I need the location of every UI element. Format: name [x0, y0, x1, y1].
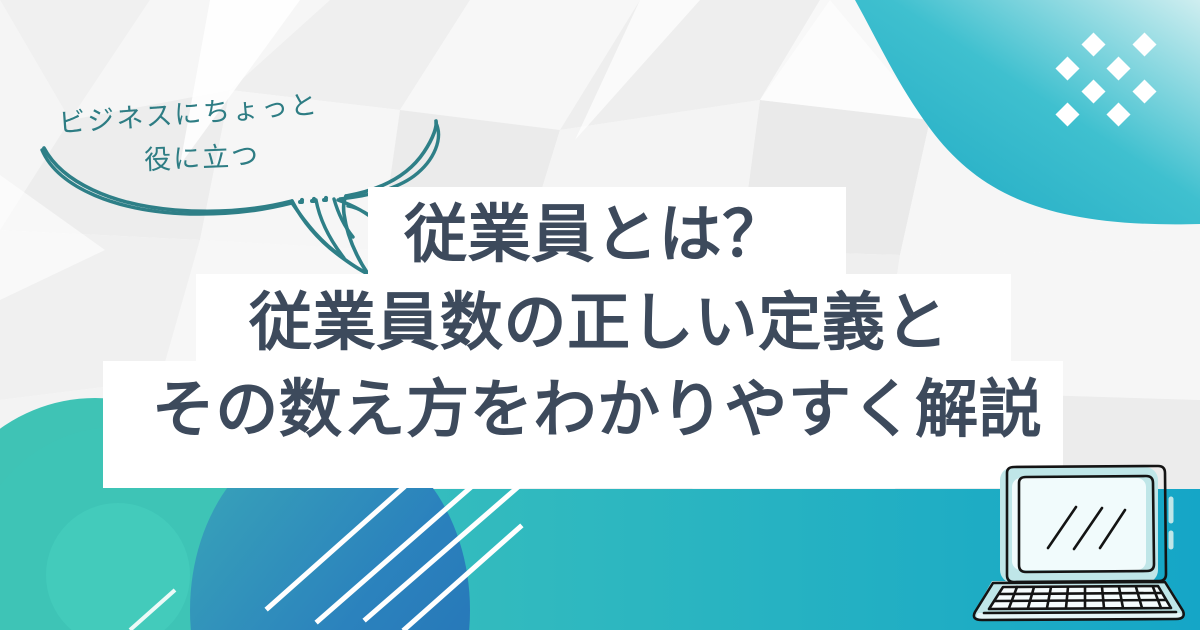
page-title-line-3: その数え方をわかりやすく解説 [0, 375, 1197, 445]
page-title-line-1: 従業員とは？ [0, 200, 1195, 270]
banner-canvas: ビジネスにちょっと 役に立つ 従業員とは？ 従業員数の正しい定義と その数え方を… [0, 0, 1200, 630]
page-title-line-2: 従業員数の正しい定義と [0, 288, 1199, 358]
laptop-illustration-icon [962, 463, 1194, 623]
